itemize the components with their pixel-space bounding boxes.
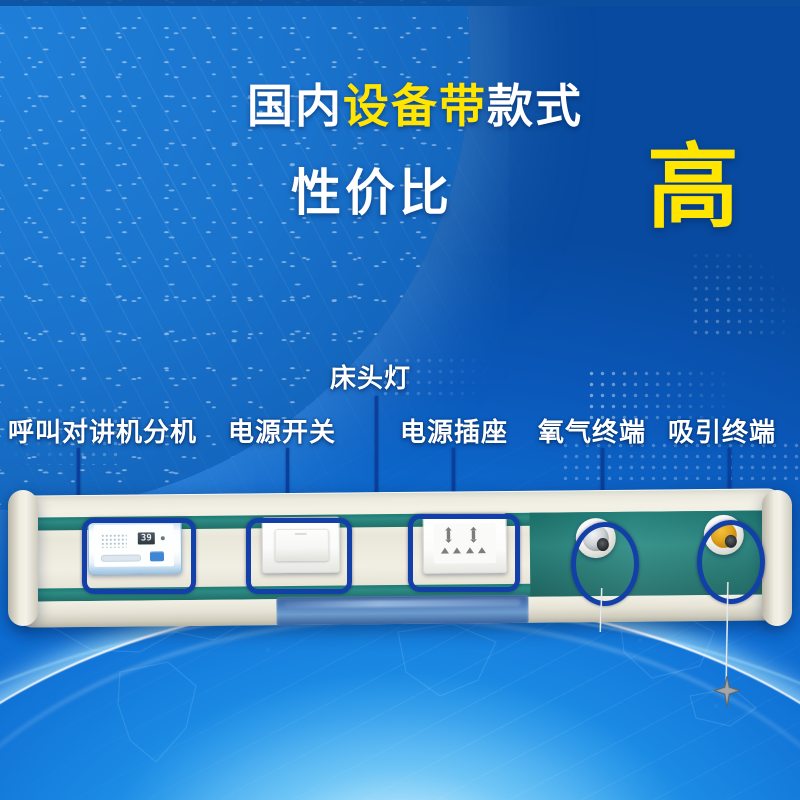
top-edge-shade	[0, 0, 800, 6]
highlight-ring-power-switch	[246, 518, 352, 594]
highlight-ring-power-socket	[408, 514, 520, 592]
headline-line-1: 国内设备带款式	[0, 78, 800, 134]
callout-label-oxygen: 氧气终端	[538, 412, 646, 449]
highlight-ring-oxygen	[571, 522, 639, 606]
pull-cord-clip-icon[interactable]	[712, 676, 742, 708]
panel-end-cap-left	[8, 490, 38, 626]
callout-label-suction: 吸引终端	[668, 412, 776, 449]
headline-part-2: 款式	[487, 80, 583, 132]
halftone-dots	[690, 250, 800, 340]
headline-part-1: 国内	[247, 80, 343, 132]
headline-block: 国内设备带款式 性价比 高	[0, 78, 800, 238]
headline-accent: 设备带	[343, 80, 487, 132]
panel-end-cap-right	[762, 490, 792, 626]
callout-label-power-switch: 电源开关	[228, 412, 336, 449]
headline-big-char: 高	[647, 138, 741, 238]
highlight-ring-intercom	[82, 518, 196, 594]
headline-line-2: 性价比 高	[0, 152, 800, 238]
highlight-ring-suction	[697, 520, 765, 604]
poster-canvas: 国内设备带款式 性价比 高 呼叫对讲机分机 电源开关 床头灯 电源插座 氧气终端…	[0, 0, 800, 800]
callout-label-intercom: 呼叫对讲机分机	[8, 412, 197, 449]
callout-label-power-socket: 电源插座	[400, 412, 508, 449]
headline-value-text: 性价比	[291, 160, 453, 226]
callout-label-bed-lamp: 床头灯	[330, 358, 411, 395]
